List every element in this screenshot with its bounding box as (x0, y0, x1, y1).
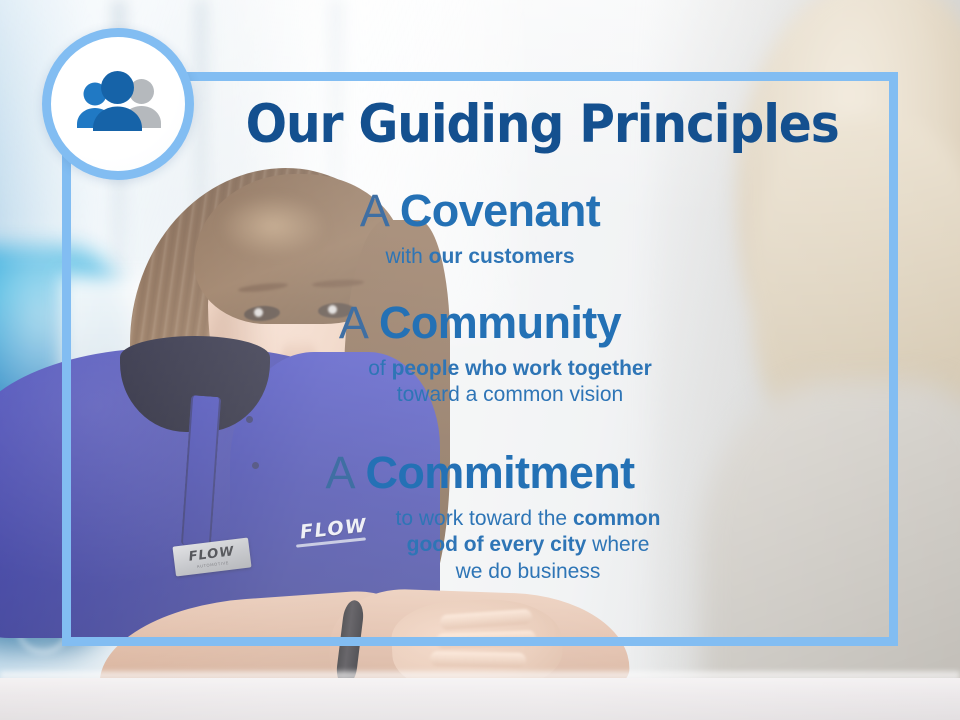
subtext-line: we do business (158, 559, 898, 585)
subtext-part: where (586, 533, 649, 556)
guiding-principles-graphic: FLOW AUTOMOTIVE FLOW O (0, 0, 960, 720)
principle-heading: A Community (62, 300, 898, 347)
subtext-part-bold: good of every city (407, 533, 587, 556)
principle-subtext: with our customers (62, 244, 898, 270)
principle-article: A (339, 297, 367, 348)
principle-keyword: Community (379, 297, 621, 348)
principle-heading: A Commitment (62, 450, 898, 497)
white-table-surface (0, 678, 960, 720)
principle-keyword: Commitment (366, 447, 635, 498)
subtext-part-bold: common (573, 507, 661, 530)
subtext-line: good of every city where (158, 532, 898, 558)
principle-keyword: Covenant (400, 185, 600, 236)
principle-covenant: A Covenant with our customers (62, 188, 944, 270)
subtext-part-bold: our customers (429, 245, 575, 268)
text-content: Our Guiding Principles A Covenant with o… (62, 72, 898, 646)
principle-subtext: of people who work together toward a com… (62, 356, 898, 409)
page-title: Our Guiding Principles (246, 98, 835, 152)
principle-heading: A Covenant (62, 188, 898, 235)
subtext-part: with (385, 245, 428, 268)
subtext-line: of people who work together (122, 356, 898, 382)
subtext-part: of (368, 357, 391, 380)
subtext-line: toward a common vision (122, 382, 898, 408)
principle-community: A Community of people who work together … (62, 300, 906, 409)
subtext-line: with our customers (62, 244, 898, 270)
subtext-part: to work toward the (396, 507, 573, 530)
finger (430, 651, 526, 668)
principle-article: A (360, 185, 388, 236)
principle-article: A (325, 447, 353, 498)
subtext-line: to work toward the common (158, 506, 898, 532)
principle-subtext: to work toward the common good of every … (62, 506, 898, 585)
subtext-part-bold: people who work together (392, 357, 652, 380)
principle-commitment: A Commitment to work toward the common g… (62, 450, 898, 585)
